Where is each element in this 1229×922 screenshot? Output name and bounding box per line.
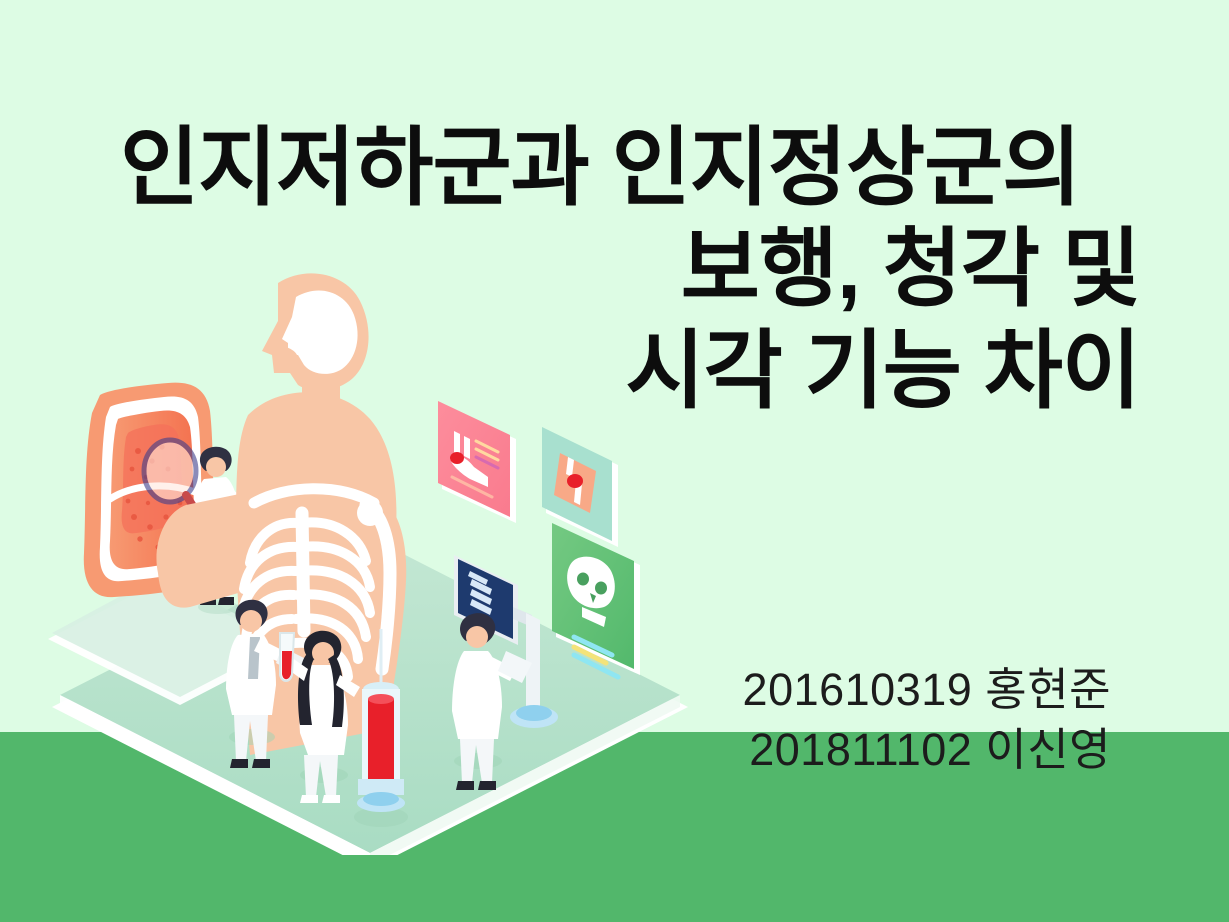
- test-tube-icon: [280, 633, 294, 681]
- author-line-1: 201610319 홍현준: [743, 660, 1111, 720]
- title-line-1: 인지저하군과 인지정상군의: [120, 118, 1140, 219]
- author-block: 201610319 홍현준 201811102 이신영: [743, 660, 1111, 780]
- slide-title: 인지저하군과 인지정상군의 보행, 청각 및 시각 기능 차이: [120, 118, 1140, 422]
- title-slide: 인지저하군과 인지정상군의 보행, 청각 및 시각 기능 차이 20161031…: [0, 0, 1229, 922]
- title-line-3: 시각 기능 차이: [120, 321, 1140, 422]
- title-line-2: 보행, 청각 및: [120, 219, 1140, 320]
- author-line-2: 201811102 이신영: [743, 720, 1111, 780]
